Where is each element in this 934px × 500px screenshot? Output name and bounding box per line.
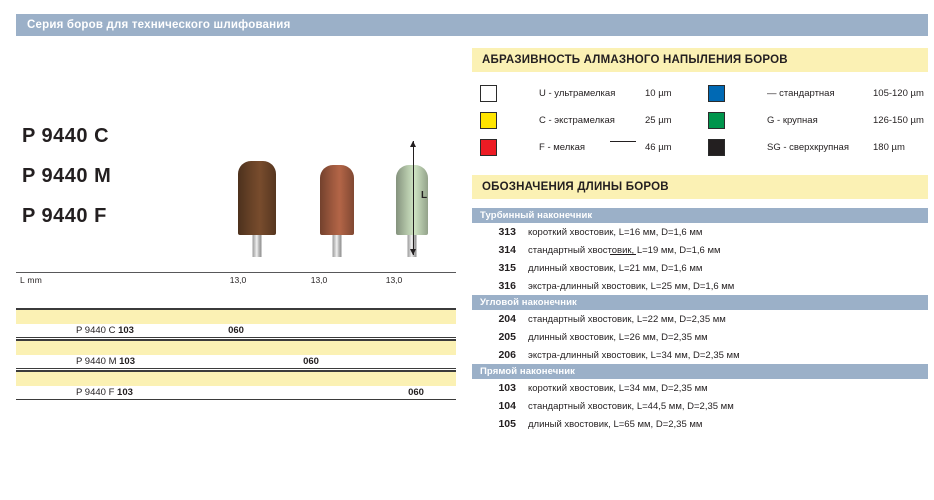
list-item[interactable]: 105 длиный хвостовик, L=65 мм, D=2,35 мм — [472, 415, 928, 433]
legend-value-extrafine: 25 µm — [645, 115, 672, 126]
product-row-prefix: P 9440 C — [76, 325, 118, 336]
length-code-204: 204 — [472, 313, 528, 325]
length-code-314: 314 — [472, 244, 528, 256]
row-rule-top — [16, 370, 456, 372]
section-header-straight: Прямой наконечник — [472, 364, 928, 379]
dimension-arrow-down-icon — [410, 249, 416, 255]
product-code-c: P 9440 C — [22, 125, 111, 148]
length-desc-105: длиный хвостовик, L=65 мм, D=2,35 мм — [528, 419, 702, 430]
legend-item: G - крупная 126-150 µm — [700, 107, 928, 134]
length-desc-204: стандартный хвостовик, L=22 мм, D=2,35 м… — [528, 314, 726, 325]
legend-item: F - мелкая 46 µm — [472, 134, 700, 161]
catalog-page: Серия боров для технического шлифования … — [0, 0, 934, 500]
product-row-shank: 103 — [119, 356, 135, 367]
list-item[interactable]: 315 длинный хвостовик, L=21 мм, D=1,6 мм — [472, 259, 928, 277]
length-code-316: 316 — [472, 280, 528, 292]
section-header-angular: Угловой наконечник — [472, 295, 928, 310]
length-desc-315: длинный хвостовик, L=21 мм, D=1,6 мм — [528, 263, 702, 274]
swatch-ultrafine-icon — [480, 85, 497, 102]
length-section-header: ОБОЗНАЧЕНИЯ ДЛИНЫ БОРОВ — [472, 175, 928, 199]
product-row-value-c: 060 — [216, 324, 256, 337]
product-row-value-m: 060 — [291, 355, 331, 368]
product-row-value-f: 060 — [396, 386, 436, 399]
length-title: ОБОЗНАЧЕНИЯ ДЛИНЫ БОРОВ — [482, 181, 669, 193]
length-desc-104: стандартный хвостовик, L=44,5 мм, D=2,35… — [528, 401, 734, 412]
swatch-standard-icon — [708, 85, 725, 102]
legend-item: U - ультрамелкая 10 µm — [472, 80, 700, 107]
bur-length-f: 13,0 — [374, 275, 414, 285]
length-desc-314: стандартный хвостовик, L=19 мм, D=1,6 мм — [528, 245, 721, 256]
length-code-313: 313 — [472, 226, 528, 238]
bur-illustration-m — [320, 165, 354, 235]
dimension-label-L: L — [421, 190, 427, 201]
row-rule-bottom — [16, 368, 456, 369]
bur-illustration-c — [238, 161, 276, 235]
page-title-bar: Серия боров для технического шлифования — [16, 14, 928, 36]
product-row-label-f: P 9440 F 103 — [76, 386, 133, 399]
list-item[interactable]: 313 короткий хвостовик, L=16 мм, D=1,6 м… — [472, 223, 928, 241]
dimension-line — [413, 141, 414, 255]
right-panel: АБРАЗИВНОСТЬ АЛМАЗНОГО НАПЫЛЕНИЯ БОРОВ U… — [472, 48, 928, 433]
product-table: P 9440 C 103 060 P 9440 M 103 060 P 9440… — [16, 308, 456, 401]
row-band — [16, 339, 456, 355]
length-desc-313: короткий хвостовик, L=16 мм, D=1,6 мм — [528, 227, 702, 238]
table-row[interactable]: P 9440 F 103 060 — [16, 370, 456, 401]
product-row-label-c: P 9440 C 103 — [76, 324, 134, 337]
legend-item: SG - сверхкрупная 180 µm — [700, 134, 928, 161]
swatch-coarse-icon — [708, 112, 725, 129]
length-code-105: 105 — [472, 418, 528, 430]
length-code-104: 104 — [472, 400, 528, 412]
length-desc-206: экстра-длинный хвостовик, L=34 мм, D=2,3… — [528, 350, 740, 361]
dimension-arrow-up-icon — [410, 141, 416, 147]
row-rule-top — [16, 308, 456, 310]
table-row[interactable]: P 9440 C 103 060 — [16, 308, 456, 339]
bur-length-c: 13,0 — [218, 275, 258, 285]
product-row-label-m: P 9440 M 103 — [76, 355, 135, 368]
row-band — [16, 370, 456, 386]
row-rule-top — [16, 339, 456, 341]
legend-value-standard: 105-120 µm — [873, 88, 924, 99]
legend-item: — стандартная 105-120 µm — [700, 80, 928, 107]
legend-value-ultrafine: 10 µm — [645, 88, 672, 99]
length-code-206: 206 — [472, 349, 528, 361]
section-header-turbine-label: Турбинный наконечник — [480, 210, 592, 221]
legend-name-ultrafine: U - ультрамелкая — [539, 88, 615, 99]
axis-label-lmm: L mm — [20, 275, 42, 285]
list-item[interactable]: 104 стандартный хвостовик, L=44,5 мм, D=… — [472, 397, 928, 415]
product-row-shank: 103 — [118, 325, 134, 336]
bur-length-m: 13,0 — [299, 275, 339, 285]
legend-value-supercoarse: 180 µm — [873, 142, 905, 153]
row-rule-bottom — [16, 337, 456, 338]
legend-value-fine: 46 µm — [645, 142, 672, 153]
length-designation-table: Турбинный наконечник 313 короткий хвосто… — [472, 208, 928, 433]
legend-name-fine: F - мелкая — [539, 142, 585, 153]
product-code-f: P 9440 F — [22, 205, 111, 228]
swatch-supercoarse-icon — [708, 139, 725, 156]
legend-column-right: — стандартная 105-120 µm G - крупная 126… — [700, 80, 928, 161]
swatch-extrafine-icon — [480, 112, 497, 129]
length-code-315: 315 — [472, 262, 528, 274]
page-title: Серия боров для технического шлифования — [16, 19, 290, 31]
abrasiveness-section-header: АБРАЗИВНОСТЬ АЛМАЗНОГО НАПЫЛЕНИЯ БОРОВ — [472, 48, 928, 72]
length-desc-103: короткий хвостовик, L=34 мм, D=2,35 мм — [528, 383, 708, 394]
row-band — [16, 308, 456, 324]
abrasiveness-title: АБРАЗИВНОСТЬ АЛМАЗНОГО НАПЫЛЕНИЯ БОРОВ — [482, 54, 788, 66]
product-row-prefix: P 9440 M — [76, 356, 119, 367]
length-desc-205: длинный хвостовик, L=26 мм, D=2,35 мм — [528, 332, 708, 343]
section-header-angular-label: Угловой наконечник — [480, 297, 577, 308]
list-item[interactable]: 314 стандартный хвостовик, L=19 мм, D=1,… — [472, 241, 928, 259]
legend-name-extrafine: C - экстрамелкая — [539, 115, 615, 126]
product-row-shank: 103 — [117, 387, 133, 398]
legend-name-standard: — стандартная — [767, 88, 835, 99]
legend-name-coarse: G - крупная — [767, 115, 818, 126]
table-row[interactable]: P 9440 M 103 060 — [16, 339, 456, 370]
left-panel: P 9440 C P 9440 M P 9440 F L L mm 13,0 1… — [0, 40, 470, 380]
length-desc-316: экстра-длинный хвостовик, L=25 мм, D=1,6… — [528, 281, 734, 292]
list-item[interactable]: 316 экстра-длинный хвостовик, L=25 мм, D… — [472, 277, 928, 295]
section-header-turbine: Турбинный наконечник — [472, 208, 928, 223]
product-row-prefix: P 9440 F — [76, 387, 117, 398]
product-code-m: P 9440 M — [22, 165, 111, 188]
length-code-205: 205 — [472, 331, 528, 343]
list-item[interactable]: 205 длинный хвостовик, L=26 мм, D=2,35 м… — [472, 328, 928, 346]
legend-name-supercoarse: SG - сверхкрупная — [767, 142, 849, 153]
length-code-103: 103 — [472, 382, 528, 394]
list-item[interactable]: 206 экстра-длинный хвостовик, L=34 мм, D… — [472, 346, 928, 364]
legend-item: C - экстрамелкая 25 µm — [472, 107, 700, 134]
product-code-list: P 9440 C P 9440 M P 9440 F — [22, 125, 111, 245]
abrasiveness-legend: U - ультрамелкая 10 µm C - экстрамелкая … — [472, 80, 928, 161]
list-item[interactable]: 103 короткий хвостовик, L=34 мм, D=2,35 … — [472, 379, 928, 397]
swatch-fine-icon — [480, 139, 497, 156]
row-rule-bottom — [16, 399, 456, 400]
legend-value-coarse: 126-150 µm — [873, 115, 924, 126]
section-header-straight-label: Прямой наконечник — [480, 366, 575, 377]
list-item[interactable]: 204 стандартный хвостовик, L=22 мм, D=2,… — [472, 310, 928, 328]
legend-column-left: U - ультрамелкая 10 µm C - экстрамелкая … — [472, 80, 700, 161]
measure-baseline — [16, 272, 456, 273]
